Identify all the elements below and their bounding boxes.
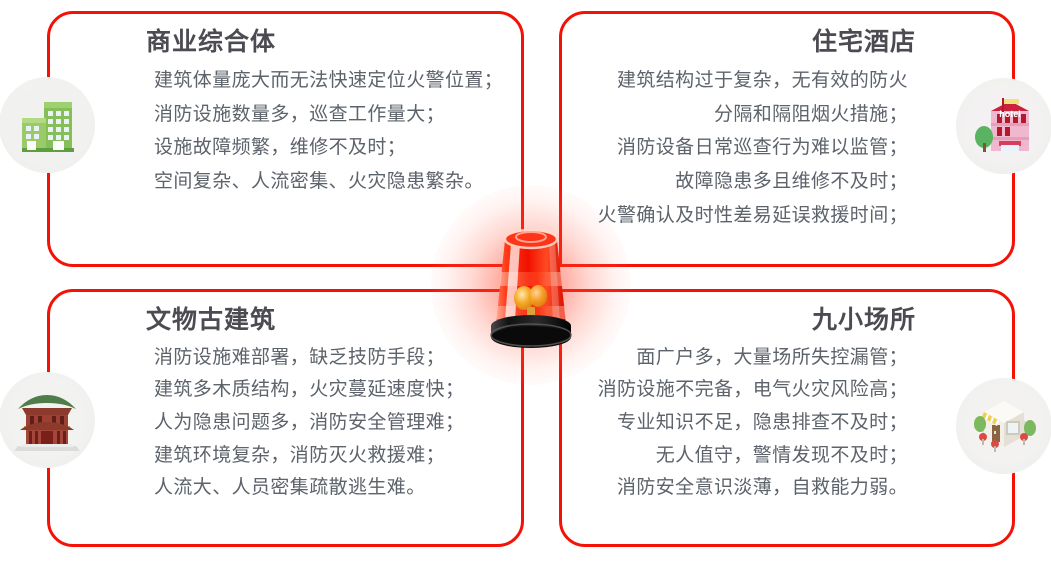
list-item: 消防设备日常巡查行为难以监管； — [592, 131, 908, 165]
card-bullet-list: 面广户多，大量场所失控漏管； 消防设施不完备，电气火灾风险高； 专业知识不足，隐… — [592, 342, 960, 505]
list-item: 建筑多木质结构，火灾蔓延速度快； — [154, 374, 491, 407]
card-bullet-list: 建筑体量庞大而无法快速定位火警位置； 消防设施数量多，巡查工作量大； 设施故障频… — [102, 64, 491, 199]
list-item: 故障隐患多且维修不及时； — [592, 165, 908, 199]
list-item: 消防设施数量多，巡查工作量大； — [154, 98, 491, 132]
quadrant-card-commercial-complex[interactable]: 商业综合体 建筑体量庞大而无法快速定位火警位置； 消防设施数量多，巡查工作量大；… — [47, 11, 524, 267]
list-item: 消防设施不完备，电气火灾风险高； — [592, 374, 908, 407]
office-building-icon — [0, 77, 95, 173]
hotel-building-icon: hotel — [956, 78, 1051, 174]
card-content: 九小场所 面广户多，大量场所失控漏管； 消防设施不完备，电气火灾风险高； 专业知… — [562, 292, 1012, 544]
card-bullet-list: 消防设施难部署，缺乏技防手段； 建筑多木质结构，火灾蔓延速度快； 人为隐患问题多… — [102, 342, 491, 505]
list-item: 无人值守，警情发现不及时； — [592, 440, 908, 473]
list-item: 面广户多，大量场所失控漏管； — [592, 342, 908, 375]
card-title: 九小场所 — [592, 304, 960, 338]
list-item: 建筑环境复杂，消防灭火救援难； — [154, 440, 491, 473]
list-item: 建筑体量庞大而无法快速定位火警位置； — [154, 64, 491, 98]
card-title: 住宅酒店 — [592, 26, 960, 60]
list-item: 空间复杂、人流密集、火灾隐患繁杂。 — [154, 165, 491, 199]
list-item: 人为隐患问题多，消防安全管理难； — [154, 407, 491, 440]
list-item: 设施故障频繁，维修不及时； — [154, 131, 491, 165]
quadrant-card-residential-hotel[interactable]: 住宅酒店 建筑结构过于复杂，无有效的防火 分隔和隔阻烟火措施； 消防设备日常巡查… — [559, 11, 1015, 267]
list-item: 消防安全意识淡薄，自救能力弱。 — [592, 472, 908, 505]
list-item: 消防设施难部署，缺乏技防手段； — [154, 342, 491, 375]
list-item: 火警确认及时性差易延误救援时间； — [592, 199, 908, 233]
small-shop-icon — [956, 378, 1051, 474]
infographic-canvas: 商业综合体 建筑体量庞大而无法快速定位火警位置； 消防设施数量多，巡查工作量大；… — [0, 0, 1051, 562]
card-title: 商业综合体 — [102, 26, 491, 60]
list-item: 建筑结构过于复杂，无有效的防火 — [592, 64, 908, 98]
pagoda-temple-icon — [0, 372, 95, 468]
list-item: 分隔和隔阻烟火措施； — [592, 98, 908, 132]
card-content: 文物古建筑 消防设施难部署，缺乏技防手段； 建筑多木质结构，火灾蔓延速度快； 人… — [50, 292, 521, 544]
card-content: 住宅酒店 建筑结构过于复杂，无有效的防火 分隔和隔阻烟火措施； 消防设备日常巡查… — [562, 14, 1012, 264]
list-item: 人流大、人员密集疏散逃生难。 — [154, 472, 491, 505]
card-title: 文物古建筑 — [102, 304, 491, 338]
card-content: 商业综合体 建筑体量庞大而无法快速定位火警位置； 消防设施数量多，巡查工作量大；… — [50, 14, 521, 264]
quadrant-card-heritage-architecture[interactable]: 文物古建筑 消防设施难部署，缺乏技防手段； 建筑多木质结构，火灾蔓延速度快； 人… — [47, 289, 524, 547]
quadrant-card-nine-small-venues[interactable]: 九小场所 面广户多，大量场所失控漏管； 消防设施不完备，电气火灾风险高； 专业知… — [559, 289, 1015, 547]
card-bullet-list: 建筑结构过于复杂，无有效的防火 分隔和隔阻烟火措施； 消防设备日常巡查行为难以监… — [592, 64, 960, 233]
list-item: 专业知识不足，隐患排查不及时； — [592, 407, 908, 440]
